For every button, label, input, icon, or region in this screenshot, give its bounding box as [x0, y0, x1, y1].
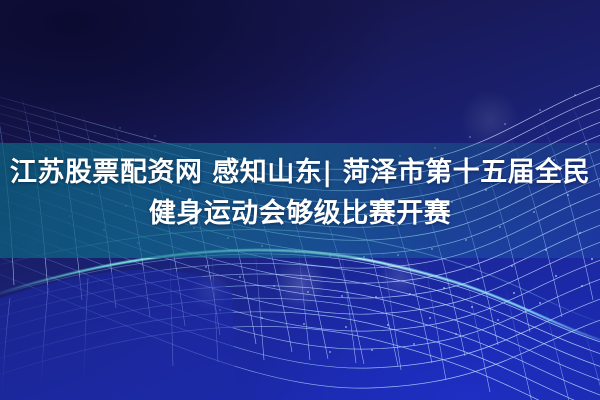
page-title: 江苏股票配资网 感知山东| 菏泽市第十五届全民 健身运动会够级比赛开赛: [0, 152, 600, 234]
headline-line-1: 江苏股票配资网 感知山东| 菏泽市第十五届全民: [0, 152, 600, 193]
banner-image: 江苏股票配资网 感知山东| 菏泽市第十五届全民 健身运动会够级比赛开赛: [0, 0, 600, 400]
bottom-left-wash: [0, 270, 236, 400]
headline-line-2: 健身运动会够级比赛开赛: [0, 193, 600, 234]
